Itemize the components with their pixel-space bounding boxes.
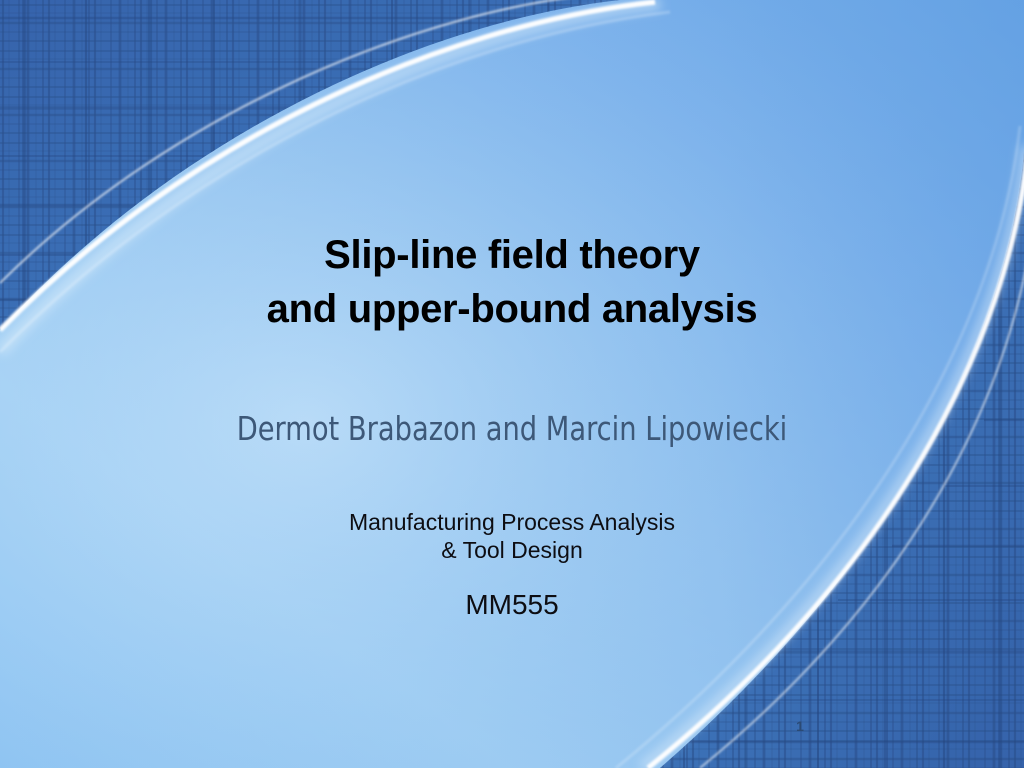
page-number: 1 xyxy=(760,718,840,734)
authors-line: Dermot Brabazon and Marcin Lipowiecki xyxy=(41,409,983,449)
page-title: Slip-line field theory and upper-bound a… xyxy=(0,228,1024,336)
course-name: Manufacturing Process Analysis & Tool De… xyxy=(0,508,1024,564)
course-code: MM555 xyxy=(0,588,1024,622)
presentation-slide: Slip-line field theory and upper-bound a… xyxy=(0,0,1024,768)
slide-content: Slip-line field theory and upper-bound a… xyxy=(0,0,1024,768)
